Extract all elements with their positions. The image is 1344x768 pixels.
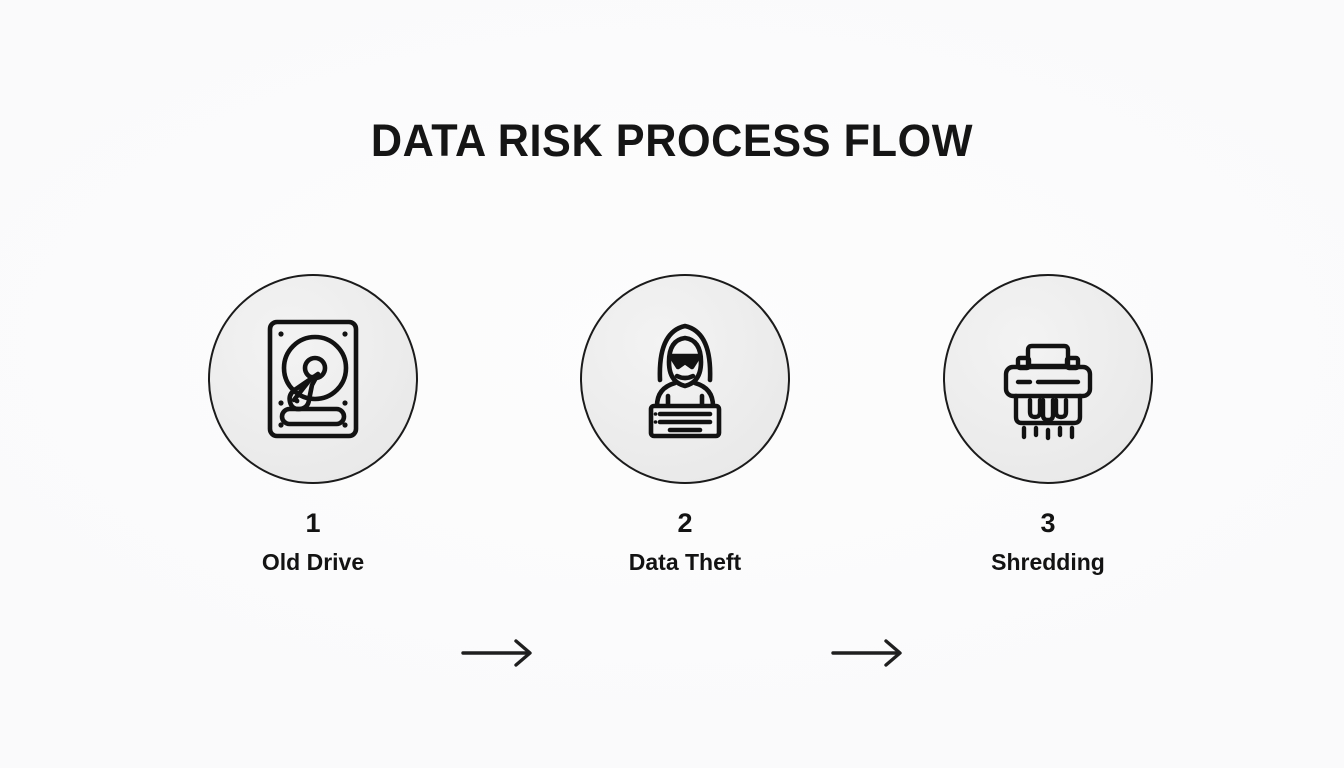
process-step-1[interactable]: 1 Old Drive (183, 274, 443, 575)
infographic-canvas: DATA RISK PROCESS FLOW (0, 0, 1344, 768)
process-flow: 1 Old Drive (0, 274, 1344, 584)
step-1-number: 1 (183, 508, 443, 538)
step-1-label: Old Drive (183, 549, 443, 575)
step-2-icon-circle[interactable] (580, 274, 790, 484)
arrow-right-icon (831, 636, 907, 670)
step-2-label: Data Theft (555, 549, 815, 575)
arrow-right-icon (461, 636, 537, 670)
process-step-3[interactable]: 3 Shredding (918, 274, 1178, 575)
step-1-icon-circle[interactable] (208, 274, 418, 484)
page-title: DATA RISK PROCESS FLOW (27, 112, 1317, 170)
step-3-icon-circle[interactable] (943, 274, 1153, 484)
hard-disk-drive-icon (265, 317, 361, 441)
process-step-2[interactable]: 2 Data Theft (555, 274, 815, 575)
hooded-hacker-laptop-icon (630, 318, 740, 440)
step-3-number: 3 (918, 508, 1178, 538)
paper-shredder-icon (998, 314, 1098, 444)
step-2-number: 2 (555, 508, 815, 538)
connector-arrow-2 (831, 636, 907, 670)
step-3-label: Shredding (918, 549, 1178, 575)
connector-arrow-1 (461, 636, 537, 670)
